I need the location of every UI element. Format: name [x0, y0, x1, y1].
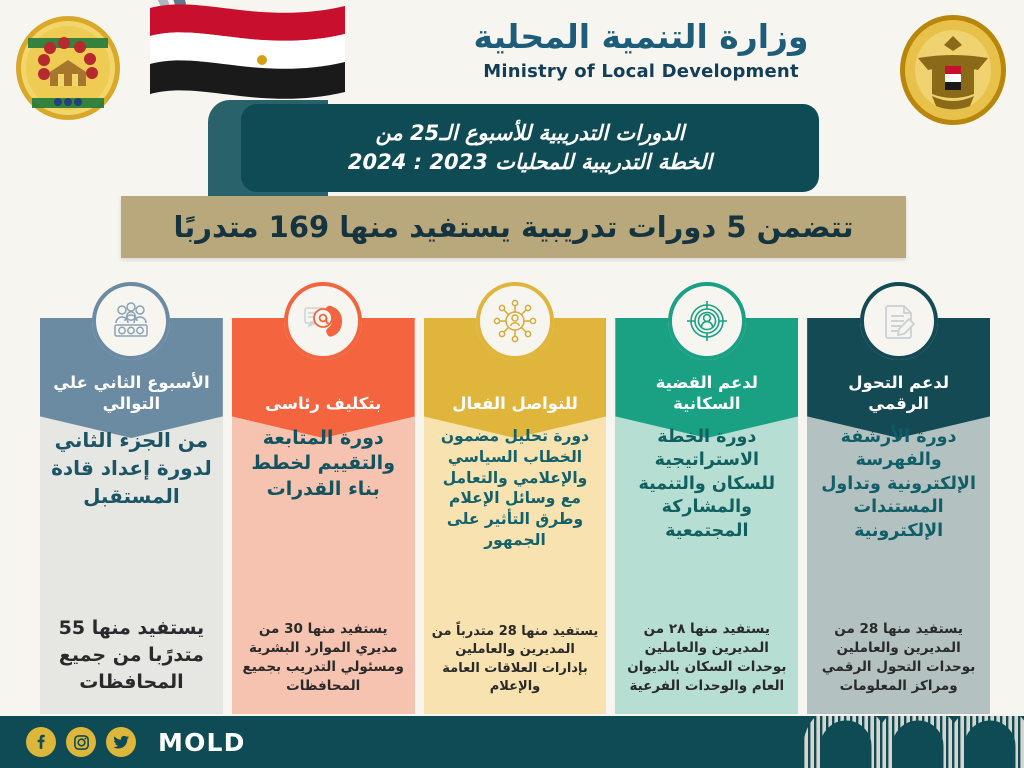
footer-bar: MOLD [0, 716, 1024, 768]
course-card: دورة الخطة الاستراتيجية للسكان والتنمية … [615, 318, 798, 714]
striped-arches-decoration [694, 716, 1024, 768]
brand-label: MOLD [158, 728, 246, 757]
egypt-flag-ribbon [140, 0, 350, 118]
instagram-icon[interactable] [66, 727, 96, 757]
course-card: دورة الأرشفة والفهرسة الإلكترونية وتداول… [807, 318, 990, 714]
course-cards-row: دورة الأرشفة والفهرسة الإلكترونية وتداول… [40, 318, 990, 714]
card-benefit-text: يستفيد منها ٢٨ من المديرين والعاملين بوح… [623, 620, 790, 704]
card-benefit-text: يستفيد منها 30 من مديري الموارد البشرية … [240, 620, 407, 704]
card-course-title: دورة الأرشفة والفهرسة الإلكترونية وتداول… [815, 426, 982, 543]
card-course-title: دورة تحليل مضمون الخطاب السياسي والإعلام… [432, 426, 599, 551]
card-benefit-text: يستفيد منها 55 متدرًبا من جميع المحافظات [48, 615, 215, 704]
course-card: دورة المتابعة والتقييم لخطط بناء القدرات… [232, 318, 415, 714]
infographic-canvas: وزارة التنمية المحلية Ministry of Local … [0, 0, 1024, 768]
card-course-title: من الجزء الثاني لدورة إعداد قادة المستقب… [48, 426, 215, 510]
card-benefit-text: يستفيد منها 28 من المديرين والعاملين بوح… [815, 620, 982, 704]
mold-gold-medal-emblem [14, 14, 122, 122]
target-person-icon [668, 282, 746, 360]
card-benefit-text: يستفيد منها 28 متدرباً من المديرين والعا… [432, 623, 599, 704]
egypt-eagle-emblem [898, 14, 1008, 126]
card-course-title: دورة الخطة الاستراتيجية للسكان والتنمية … [623, 426, 790, 543]
ministry-name-arabic: وزارة التنمية المحلية [406, 18, 876, 56]
twitter-icon[interactable] [106, 727, 136, 757]
main-title-line2: الخطة التدريبية للمحليات 2023 : 2024 [348, 148, 712, 177]
main-title-banner: الدورات التدريبية للأسبوع الـ25 من الخطة… [241, 104, 819, 192]
group-people-icon [92, 282, 170, 360]
phone-chat-at-icon [284, 282, 362, 360]
network-person-icon [476, 282, 554, 360]
subtitle-banner: تتضمن 5 دورات تدريبية يستفيد منها 169 مت… [121, 196, 906, 258]
course-card: من الجزء الثاني لدورة إعداد قادة المستقب… [40, 318, 223, 714]
ministry-title-block: وزارة التنمية المحلية Ministry of Local … [406, 18, 876, 82]
ministry-name-english: Ministry of Local Development [406, 61, 876, 82]
card-course-title: دورة المتابعة والتقييم لخطط بناء القدرات [240, 426, 407, 502]
course-card: دورة تحليل مضمون الخطاب السياسي والإعلام… [424, 318, 607, 714]
facebook-icon[interactable] [26, 727, 56, 757]
document-pencil-icon [860, 282, 938, 360]
main-title-line1: الدورات التدريبية للأسبوع الـ25 من [376, 119, 685, 148]
subtitle-text: تتضمن 5 دورات تدريبية يستفيد منها 169 مت… [174, 210, 854, 244]
